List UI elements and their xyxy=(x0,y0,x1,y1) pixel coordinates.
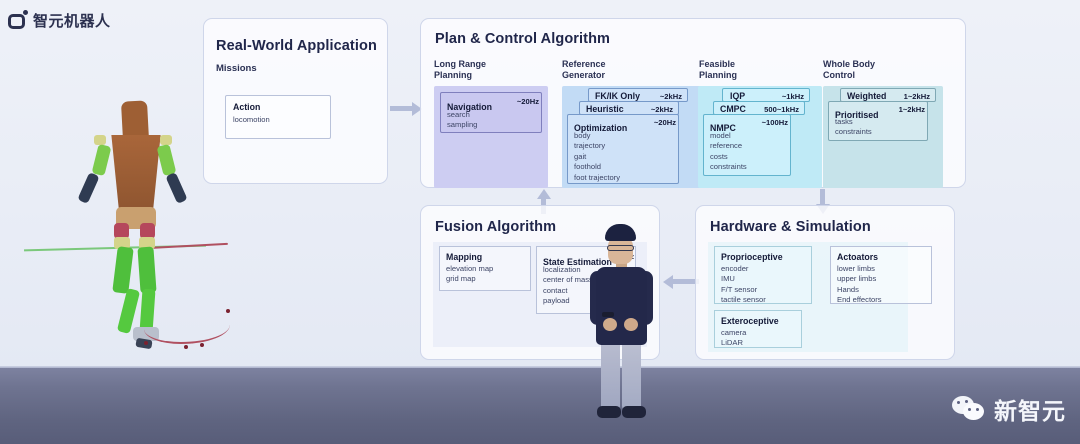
presenter-cap xyxy=(605,224,636,241)
card-optimization-item: foothold xyxy=(574,162,620,172)
card-fkik-only[interactable]: FK/IK Only ~2kHz xyxy=(588,88,688,102)
arrow-hardware-to-fusion xyxy=(663,279,699,284)
presenter-shirt xyxy=(596,267,647,345)
card-weighted-freq: 1~2kHz xyxy=(904,92,930,101)
box-actoators-title: Actoators xyxy=(837,252,882,262)
card-fkik-title: FK/IK Only xyxy=(595,91,640,101)
card-prioritised-item: tasks xyxy=(835,117,872,127)
presenter-leg-right xyxy=(622,340,641,410)
robot-simulation-figure xyxy=(40,95,215,350)
channel-watermark: 新智元 xyxy=(952,392,1066,426)
robot-thigh-right xyxy=(137,246,156,293)
card-prioritised[interactable]: Prioritised 1~2kHz tasks constraints xyxy=(828,101,928,141)
card-nmpc-item: model xyxy=(710,131,747,141)
rwa-title: Real-World Application xyxy=(216,38,377,54)
box-mapping[interactable]: Mapping elevation map grid map xyxy=(439,246,531,291)
presenter-hand-right xyxy=(624,318,638,331)
box-exteroceptive-item: camera xyxy=(721,328,779,338)
card-prioritised-item: constraints xyxy=(835,127,872,137)
card-cmpc-freq: 500~1kHz xyxy=(764,105,799,114)
robot-traj-dot xyxy=(144,341,148,345)
col-lrp-body: Navigation ~20Hz search sampling xyxy=(434,86,548,188)
panel-real-world-application: Real-World Application Missions Action l… xyxy=(203,18,388,184)
card-heuristic-freq: ~2kHz xyxy=(651,105,673,114)
robot-lower-arm-right xyxy=(165,172,187,204)
card-optimization-item: gait xyxy=(574,152,620,162)
presenter-leg-left xyxy=(601,340,620,410)
box-proprioceptive-title: Proprioceptive xyxy=(721,252,783,262)
box-proprioceptive-item: tactile sensor xyxy=(721,295,783,305)
robot-traj-dot xyxy=(226,309,230,313)
card-navigation[interactable]: Navigation ~20Hz search sampling xyxy=(440,92,542,133)
box-actoators-item: Hands xyxy=(837,285,882,295)
box-exteroceptive-title: Exteroceptive xyxy=(721,316,779,326)
rwa-action-title: Action xyxy=(233,102,270,112)
col-rg-label: Reference Generator xyxy=(562,59,606,80)
panel-hardware-simulation: Hardware & Simulation Proprioceptive enc… xyxy=(695,205,955,360)
card-weighted-title: Weighted xyxy=(847,91,886,101)
card-iqp-title: IQP xyxy=(730,91,745,101)
card-nmpc-item: constraints xyxy=(710,162,747,172)
box-exteroceptive[interactable]: Exteroceptive camera LiDAR xyxy=(714,310,802,348)
robot-thigh-left xyxy=(112,246,133,294)
hardware-title: Hardware & Simulation xyxy=(710,219,871,235)
rwa-action-item: locomotion xyxy=(233,115,270,125)
box-actoators[interactable]: Actoators lower limbs upper limbs Hands … xyxy=(830,246,932,304)
box-mapping-item: elevation map xyxy=(446,264,493,274)
box-proprioceptive-item: encoder xyxy=(721,264,783,274)
box-mapping-item: grid map xyxy=(446,274,493,284)
card-fkik-freq: ~2kHz xyxy=(660,92,682,101)
robot-shoulder-left xyxy=(94,135,106,145)
robot-traj-dot xyxy=(200,343,204,347)
plan-control-title: Plan & Control Algorithm xyxy=(435,31,610,47)
card-cmpc-title: CMPC xyxy=(720,104,746,114)
col-fp-body: IQP ~1kHz CMPC 500~1kHz NMPC ~100Hz mode… xyxy=(698,86,822,188)
box-proprioceptive[interactable]: Proprioceptive encoder IMU F/T sensor ta… xyxy=(714,246,812,304)
robot-lower-arm-left xyxy=(77,172,99,204)
box-actoators-item: lower limbs xyxy=(837,264,882,274)
card-iqp-freq: ~1kHz xyxy=(782,92,804,101)
box-mapping-title: Mapping xyxy=(446,252,493,262)
presenter-shoe-right xyxy=(622,406,646,418)
card-navigation-freq: ~20Hz xyxy=(517,97,539,106)
card-optimization-freq: ~20Hz xyxy=(654,118,676,127)
stage-floor xyxy=(0,368,1080,444)
robot-torso xyxy=(108,135,164,213)
box-exteroceptive-item: LiDAR xyxy=(721,338,779,348)
card-nmpc-item: costs xyxy=(710,152,747,162)
arrow-plan-to-hardware xyxy=(820,189,825,205)
arrow-rwa-to-plan xyxy=(390,106,414,111)
card-navigation-item: sampling xyxy=(447,120,477,130)
col-rg-body: FK/IK Only ~2kHz Heuristic ~2kHz Optimiz… xyxy=(562,86,710,188)
presenter-person xyxy=(578,224,664,432)
card-prioritised-freq: 1~2kHz xyxy=(899,105,925,114)
rwa-missions-label: Missions xyxy=(216,63,257,74)
card-optimization-item: foot trajectory xyxy=(574,173,620,183)
wechat-icon xyxy=(952,396,986,422)
box-actoators-item: upper limbs xyxy=(837,274,882,284)
watermark-text: 新智元 xyxy=(994,392,1066,426)
card-optimization[interactable]: Optimization ~20Hz body trajectory gait … xyxy=(567,114,679,184)
presenter-glasses-icon xyxy=(607,245,634,251)
card-optimization-item: body xyxy=(574,131,620,141)
presenter-watch xyxy=(602,312,614,317)
panel-plan-control-algorithm: Plan & Control Algorithm Long Range Plan… xyxy=(420,18,966,188)
col-wbc-label: Whole Body Control xyxy=(823,59,875,80)
presenter-hand-left xyxy=(603,318,617,331)
card-nmpc[interactable]: NMPC ~100Hz model reference costs constr… xyxy=(703,114,791,176)
robot-traj-dot xyxy=(184,345,188,349)
box-proprioceptive-item: F/T sensor xyxy=(721,285,783,295)
box-actoators-item: End effectors xyxy=(837,295,882,305)
col-fp-label: Feasible Planning xyxy=(699,59,737,80)
card-navigation-item: search xyxy=(447,110,477,120)
col-lrp-label: Long Range Planning xyxy=(434,59,486,80)
col-wbc-body: Weighted 1~2kHz Prioritised 1~2kHz tasks… xyxy=(823,86,943,188)
card-nmpc-freq: ~100Hz xyxy=(762,118,788,127)
robot-upper-arm-right xyxy=(157,144,177,176)
card-weighted[interactable]: Weighted 1~2kHz xyxy=(840,88,936,102)
presenter-shoe-left xyxy=(597,406,621,418)
rwa-action-box: Action locomotion xyxy=(225,95,331,139)
robot-upper-arm-left xyxy=(92,144,112,176)
fusion-title: Fusion Algorithm xyxy=(435,219,556,235)
box-proprioceptive-item: IMU xyxy=(721,274,783,284)
card-iqp[interactable]: IQP ~1kHz xyxy=(722,88,810,102)
card-cmpc[interactable]: CMPC 500~1kHz xyxy=(713,101,805,115)
card-nmpc-item: reference xyxy=(710,141,747,151)
card-optimization-item: trajectory xyxy=(574,141,620,151)
card-heuristic-title: Heuristic xyxy=(586,104,624,114)
card-heuristic[interactable]: Heuristic ~2kHz xyxy=(579,101,679,115)
